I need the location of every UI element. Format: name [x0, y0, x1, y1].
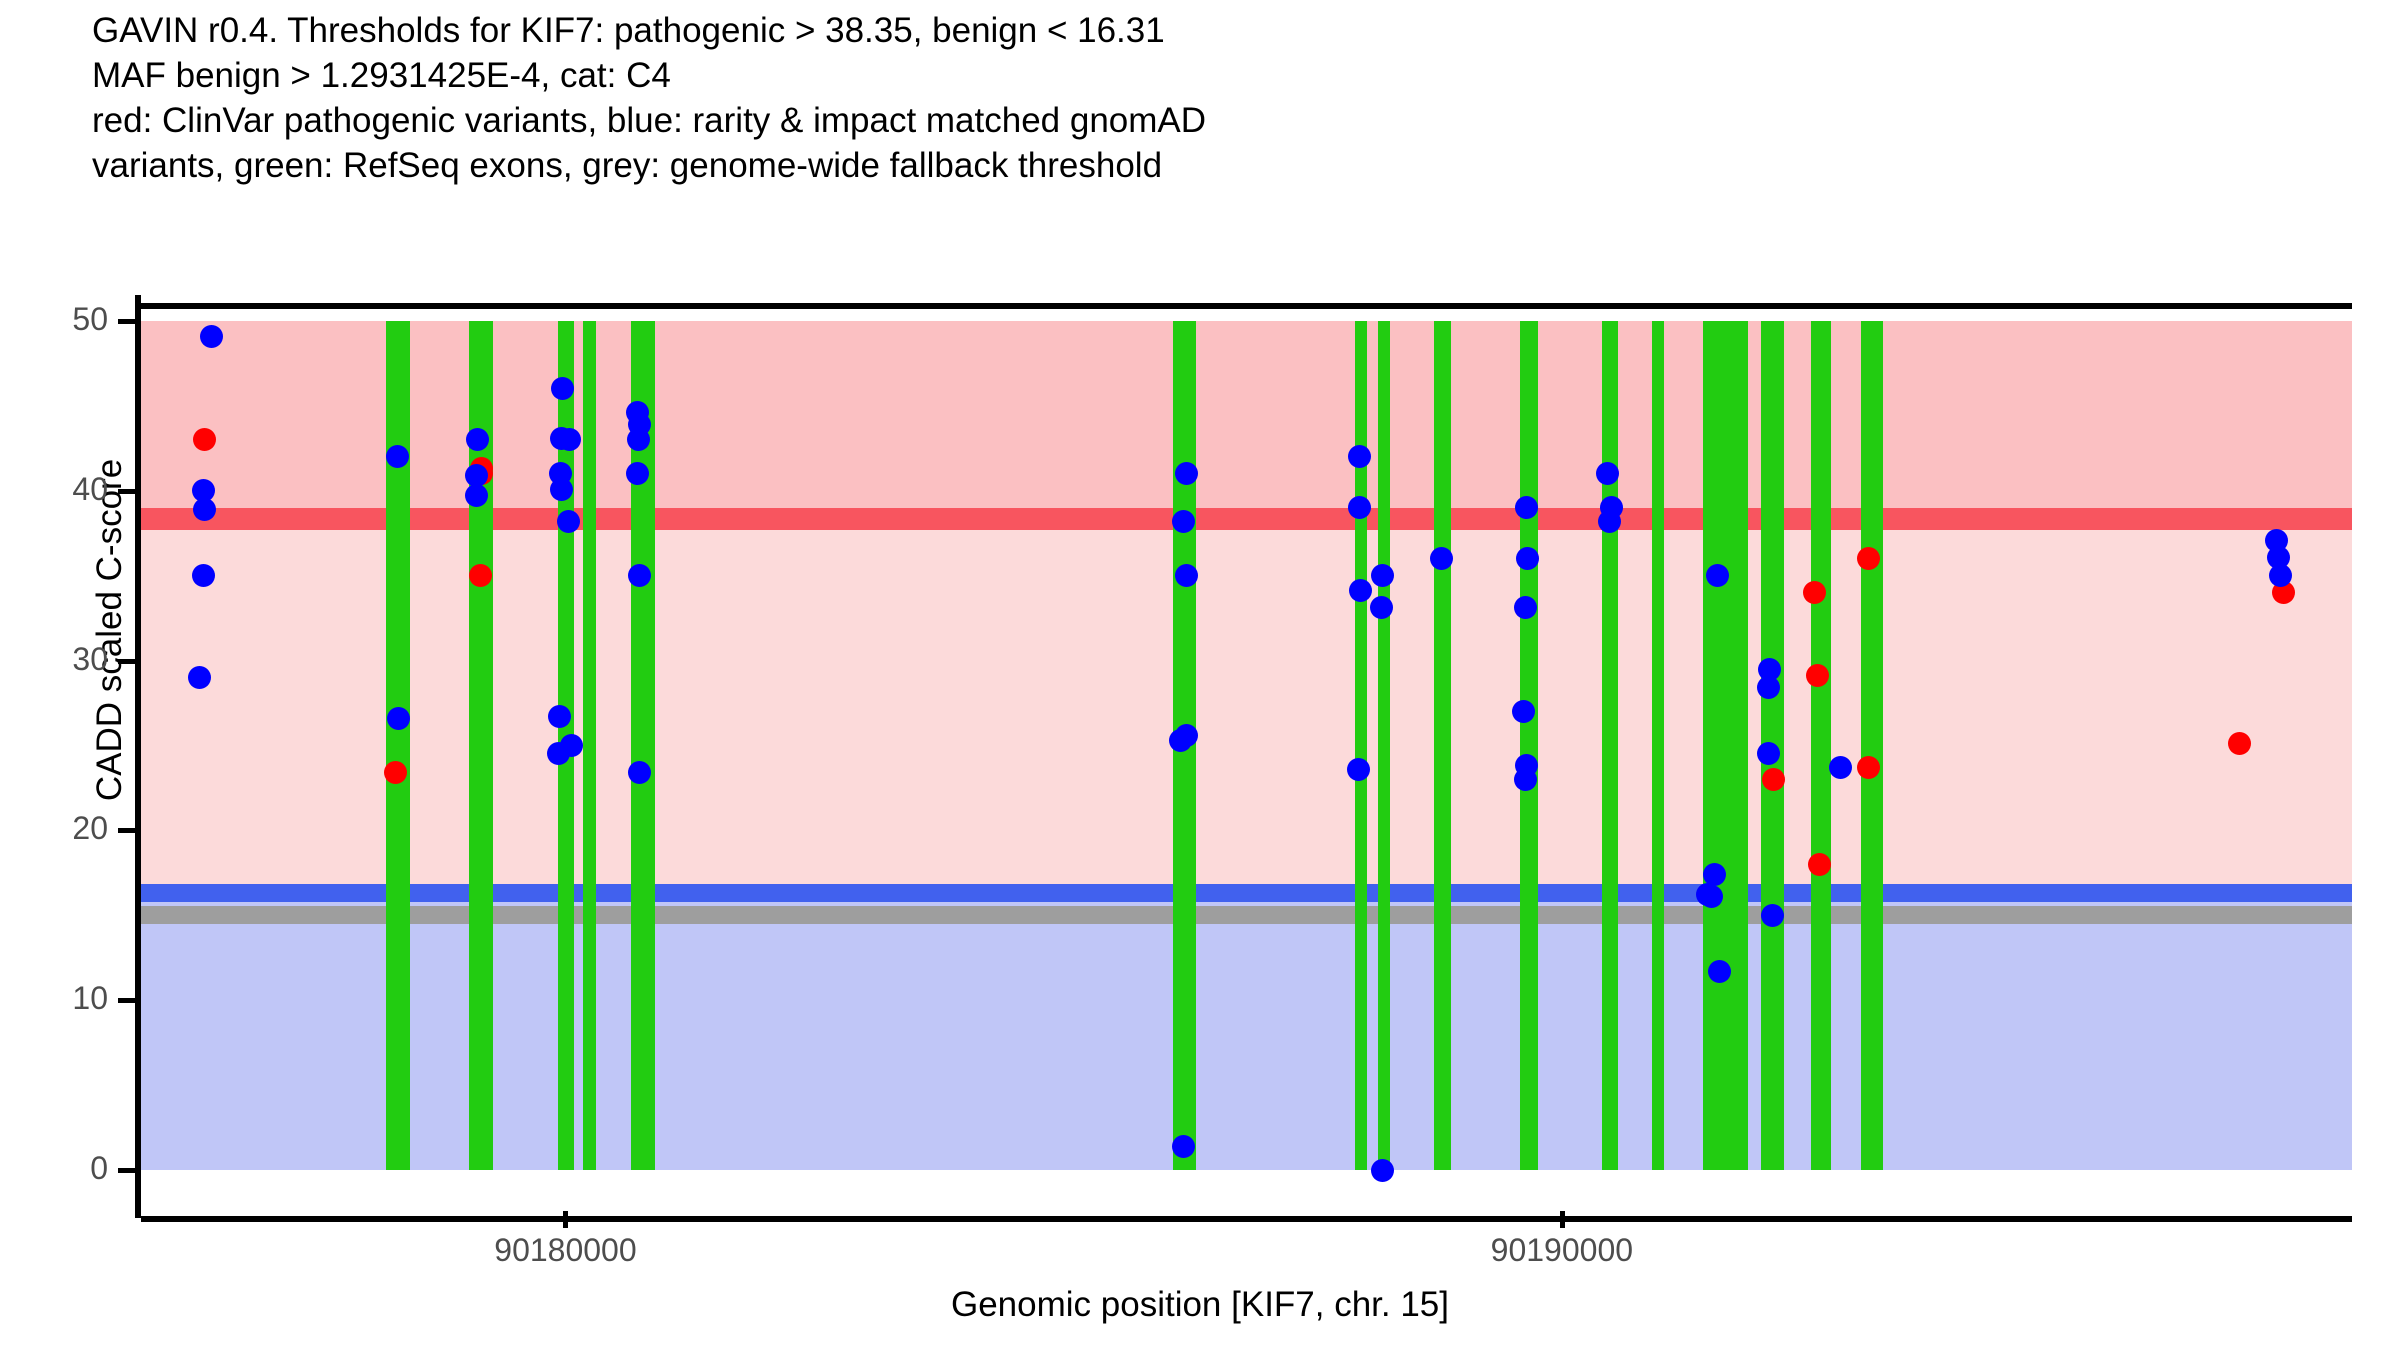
gnomad-variant-point — [1708, 960, 1731, 983]
x-axis-tick — [563, 1211, 568, 1228]
gnomad-variant-point — [1175, 462, 1198, 485]
clinvar-variant-point — [384, 761, 407, 784]
y-axis-tick — [118, 319, 135, 324]
gnomad-variant-point — [1761, 904, 1784, 927]
plot-content — [141, 303, 2352, 1210]
gnomad-variant-point — [557, 510, 580, 533]
y-axis-tick-label: 20 — [18, 810, 108, 847]
y-axis-tick-label: 40 — [18, 471, 108, 508]
y-axis-tick — [118, 828, 135, 833]
y-axis-tick-label: 10 — [18, 980, 108, 1017]
title-line-4: variants, green: RefSeq exons, grey: gen… — [92, 143, 2342, 188]
exon-bar — [1434, 321, 1451, 1170]
title-line-2: MAF benign > 1.2931425E-4, cat: C4 — [92, 53, 2342, 98]
y-axis-tick-label: 0 — [18, 1150, 108, 1187]
gnomad-variant-point — [627, 428, 650, 451]
exon-bar — [1811, 321, 1831, 1170]
exon-bar — [583, 321, 596, 1170]
gnomad-variant-point — [200, 325, 223, 348]
y-axis-tick — [118, 1168, 135, 1173]
x-axis-tick-label: 90180000 — [415, 1232, 715, 1269]
plot-panel — [141, 303, 2352, 1210]
gnomad-variant-point — [1172, 510, 1195, 533]
chart-title-block: GAVIN r0.4. Thresholds for KIF7: pathoge… — [92, 8, 2342, 188]
gnomad-variant-point — [1172, 1135, 1195, 1158]
gnomad-variant-point — [387, 707, 410, 730]
gnomad-variant-point — [548, 705, 571, 728]
gnomad-variant-point — [1371, 1159, 1394, 1182]
gnomad-variant-point — [1706, 564, 1729, 587]
gnomad-variant-point — [626, 462, 649, 485]
y-axis-tick — [118, 489, 135, 494]
gnomad-variant-point — [1175, 564, 1198, 587]
gnomad-variant-point — [1347, 758, 1370, 781]
y-axis-tick — [118, 659, 135, 664]
title-line-3: red: ClinVar pathogenic variants, blue: … — [92, 98, 2342, 143]
chart-root: GAVIN r0.4. Thresholds for KIF7: pathoge… — [0, 0, 2400, 1350]
exon-bar — [1652, 321, 1665, 1170]
gnomad-variant-point — [1757, 742, 1780, 765]
gnomad-variant-point — [1700, 885, 1723, 908]
exon-bar — [1602, 321, 1618, 1170]
gnomad-variant-point — [560, 734, 583, 757]
x-axis-tick — [1560, 1211, 1565, 1228]
y-axis-tick — [118, 998, 135, 1003]
gnomad-variant-point — [1430, 547, 1453, 570]
y-axis-tick-label: 30 — [18, 641, 108, 678]
x-axis-title: Genomic position [KIF7, chr. 15] — [0, 1285, 2400, 1325]
y-axis-tick-label: 50 — [18, 301, 108, 338]
gnomad-variant-point — [1175, 724, 1198, 747]
gnomad-variant-point — [2269, 564, 2292, 587]
gnomad-variant-point — [1757, 676, 1780, 699]
x-axis-tick-label: 90190000 — [1412, 1232, 1712, 1269]
title-line-1: GAVIN r0.4. Thresholds for KIF7: pathoge… — [92, 8, 2342, 53]
exon-bar — [1378, 321, 1391, 1170]
exon-bar — [1520, 321, 1538, 1170]
gnomad-variant-point — [386, 445, 409, 468]
clinvar-variant-point — [1762, 768, 1785, 791]
gnomad-variant-point — [628, 564, 651, 587]
exon-bar — [1703, 321, 1748, 1170]
gnomad-variant-point — [1598, 510, 1621, 533]
gnomad-variant-point — [550, 478, 573, 501]
gnomad-variant-point — [628, 761, 651, 784]
exon-bar — [1861, 321, 1883, 1170]
